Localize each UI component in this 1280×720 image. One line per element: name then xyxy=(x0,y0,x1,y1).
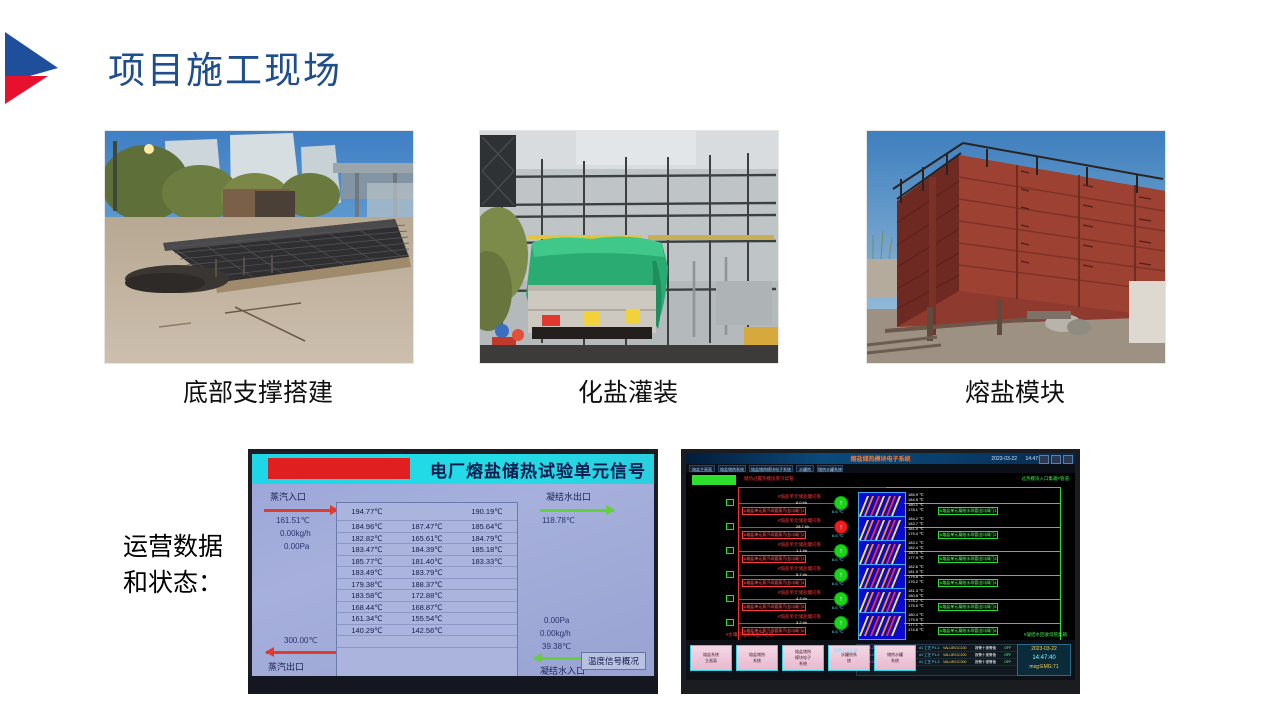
scada-clock-panel: 2023-03-22 14:47:40 msg:EMG:71 xyxy=(1017,644,1071,676)
caption-photo-1: 底部支撑搭建 xyxy=(104,373,412,409)
photo-1-art xyxy=(105,131,413,363)
hmi-steam-inlet-label: 蒸汽入口 xyxy=(270,490,306,503)
steam-valve-tag[interactable]: #熔盐单元蒸汽母管蒸汽出口阀门1 xyxy=(742,507,806,515)
condensate-branch-line xyxy=(904,623,1061,624)
pump-status-icon[interactable]: ↑ xyxy=(834,568,848,582)
hmi-table-cell xyxy=(397,636,457,647)
hmi-titlebar: 电厂熔盐储热试验单元信号 xyxy=(252,454,654,484)
pump-status-icon[interactable]: ↑ xyxy=(834,520,848,534)
scada-menu-item[interactable]: 熔盐储热系统 xyxy=(718,465,746,472)
coil-icon xyxy=(863,496,901,516)
scada-bottom-note-left: #水罐热给水泵出口总管 xyxy=(726,632,774,638)
steam-flow-value: 1.1 t/h xyxy=(796,548,807,553)
condensate-valve-tag[interactable]: #熔盐单元凝结水母管出口阀门6 xyxy=(938,627,998,635)
steam-branch-line xyxy=(738,551,834,552)
module-outlet-temp: 175.5 ℃ xyxy=(908,603,924,608)
scada-toolbar-button[interactable]: 熔盐储热 系统 xyxy=(736,645,778,671)
pump-status-icon[interactable]: ↑ xyxy=(834,592,848,606)
hmi-table-row: 168.44℃168.87℃ xyxy=(337,602,517,614)
hmi-table-cell xyxy=(457,567,517,578)
hmi-table-cell: 179.38℃ xyxy=(337,579,397,590)
hmi-table-cell xyxy=(397,503,457,520)
scada-menu-item[interactable]: 熔盐储热模块电子系统 xyxy=(749,465,793,472)
hmi-table-cell: 168.44℃ xyxy=(337,602,397,613)
hmi-condensate-inlet-label: 凝结水入口 xyxy=(540,664,585,676)
hmi-table-cell: 185.77℃ xyxy=(337,556,397,567)
condensate-valve-tag[interactable]: #熔盐单元凝结水母管出口阀门1 xyxy=(938,507,998,515)
photo-molten-salt-module xyxy=(866,130,1166,364)
hmi-condensate-inlet-flow: 0.00kg/h xyxy=(540,629,571,638)
hmi-table-cell: 155.54℃ xyxy=(397,613,457,624)
module-inlet-temp: 6.6 ℃ xyxy=(832,629,843,634)
hmi-condensate-inlet-temp: 39.38℃ xyxy=(542,642,571,651)
module-inlet-temp: 6.6 ℃ xyxy=(832,605,843,610)
alarm-log-label: 报警及下位表 xyxy=(834,648,858,654)
hmi-steam-outlet-label: 蒸汽出口 xyxy=(268,660,304,673)
hmi-table-cell xyxy=(457,590,517,601)
hmi-condensate-outlet-temp: 118.78℃ xyxy=(542,516,575,525)
hmi-table-row: 184.96℃187.47℃185.64℃ xyxy=(337,521,517,533)
scada-menu-item[interactable]: 水罐热 xyxy=(796,465,814,472)
hmi-table-cell: 183.79℃ xyxy=(397,567,457,578)
module-inlet-temp: 6.6 ℃ xyxy=(832,509,843,514)
alarm-log-cell: VALUE01C100 xyxy=(942,645,974,651)
alarm-log-cell: 报警十报警值 xyxy=(974,652,1003,658)
hmi-table-cell: 185.18℃ xyxy=(457,544,517,555)
maximize-icon[interactable] xyxy=(1051,455,1061,464)
hmi-table-cell: 188.37℃ xyxy=(397,579,457,590)
minimize-icon[interactable] xyxy=(1039,455,1049,464)
steam-valve-tag[interactable]: #熔盐单元蒸汽母管蒸汽出口阀门5 xyxy=(742,603,806,611)
hmi-steam-outlet-temp: 300.00℃ xyxy=(284,636,317,645)
steam-valve-tag[interactable]: #熔盐单元蒸汽母管蒸汽出口阀门3 xyxy=(742,555,806,563)
hmi-monitor-bezel xyxy=(248,676,658,694)
scada-bottom-note-right: #凝结水回收母管集箱 xyxy=(1024,632,1067,638)
steam-flow-value: 3.2 t/h xyxy=(796,620,807,625)
scada-title-date: 2023-03-22 xyxy=(991,456,1017,462)
pump-status-icon[interactable]: ↑ xyxy=(834,616,848,630)
scada-screen: 熔盐储热模块电子系统 2023-03-22 14:47:40 熔盐主画面熔盐储热… xyxy=(686,453,1075,680)
condensate-top-line xyxy=(886,487,1061,488)
scada-toolbar-button[interactable]: 熔盐储热 模块电子 系统 xyxy=(782,645,824,671)
scada-menubar[interactable]: 熔盐主画面熔盐储热系统熔盐储热模块电子系统水罐热储热水罐系统 xyxy=(686,464,1075,473)
coil-icon xyxy=(863,592,901,612)
brand-logo-icon xyxy=(2,28,60,108)
module-outlet-temp: 174.8 ℃ xyxy=(908,627,924,632)
hmi-table-cell: 142.56℃ xyxy=(397,625,457,636)
hmi-table-row: 185.77℃181.40℃183.33℃ xyxy=(337,556,517,568)
hmi-table-row: 140.29℃142.56℃ xyxy=(337,625,517,637)
hmi-screenshot: 电厂熔盐储热试验单元信号 蒸汽入口 161.51℃ 0.00kg/h 0.00P… xyxy=(248,449,658,694)
steam-outlet-arrow-icon xyxy=(266,650,340,654)
hmi-table-row: 194.77℃190.19℃ xyxy=(337,503,517,521)
coil-icon xyxy=(863,616,901,636)
coil-icon xyxy=(863,568,901,588)
scada-left-header: 储热过置热模块蒸汽母管 xyxy=(744,476,794,482)
scada-titlebar: 熔盐储热模块电子系统 2023-03-22 14:47:40 xyxy=(686,453,1075,464)
scada-title: 熔盐储热模块电子系统 xyxy=(850,454,910,463)
scada-mimic-diagram: 储热过置热模块蒸汽母管 过热模块入口集箱#管道 #熔盐单元储盐罐闪蒸6.0 t/… xyxy=(686,473,1075,640)
steam-branch-line xyxy=(738,527,834,528)
hmi-title: 电厂熔盐储热试验单元信号 xyxy=(430,457,646,482)
steam-branch-line xyxy=(738,599,834,600)
hmi-table-cell: 194.77℃ xyxy=(337,503,397,520)
valve-marker-icon[interactable] xyxy=(726,595,734,602)
condensate-branch-line xyxy=(904,551,1061,552)
caption-photo-2: 化盐灌装 xyxy=(479,373,777,409)
hmi-temperature-table: 194.77℃190.19℃184.96℃187.47℃185.64℃182.8… xyxy=(336,502,518,676)
hmi-condensate-inlet-pressure: 0.00Pa xyxy=(544,616,569,625)
photo-salt-filling xyxy=(479,130,779,364)
valve-marker-icon[interactable] xyxy=(726,547,734,554)
condensate-branch-line xyxy=(904,575,1061,576)
ops-data-label-line1: 运营数据 xyxy=(98,530,248,566)
scada-menu-item[interactable]: 储热水罐系统 xyxy=(817,465,843,472)
alarm-log-cell: VALUE01C300 xyxy=(942,659,974,665)
scada-toolbar-button[interactable]: 熔盐系统 主画面 xyxy=(690,645,732,671)
hmi-table-cell: 184.39℃ xyxy=(397,544,457,555)
condensate-valve-tag[interactable]: #熔盐单元凝结水母管出口阀门4 xyxy=(938,579,998,587)
coil-icon xyxy=(863,544,901,564)
alarm-log-cell: #1 工艺 P1-2 xyxy=(918,652,942,658)
status-indicator-green xyxy=(692,475,736,485)
steam-inlet-arrow-icon xyxy=(264,508,338,512)
hmi-table-row: 182.82℃165.61℃184.79℃ xyxy=(337,533,517,545)
module-outlet-temp: 177.9 ℃ xyxy=(908,555,924,560)
redaction-bar xyxy=(268,458,410,479)
scada-screenshot: 熔盐储热模块电子系统 2023-03-22 14:47:40 熔盐主画面熔盐储热… xyxy=(681,449,1080,694)
module-inlet-temp: 6.6 ℃ xyxy=(832,581,843,586)
photo-2-art xyxy=(480,131,778,363)
steam-flow-value: 28.7 t/h xyxy=(796,524,809,529)
hmi-table-cell xyxy=(337,636,397,647)
scada-toolbar-button[interactable]: 储热水罐 系统 xyxy=(874,645,916,671)
hmi-condensate-outlet-label: 凝结水出口 xyxy=(546,490,591,503)
hmi-table-cell xyxy=(457,602,517,613)
hmi-table-cell: 168.87℃ xyxy=(397,602,457,613)
scada-menu-item[interactable]: 熔盐主画面 xyxy=(689,465,715,472)
hmi-table-row: 183.49℃183.79℃ xyxy=(337,567,517,579)
hmi-table-row: 183.58℃172.88℃ xyxy=(337,590,517,602)
module-outlet-temp: 178.1 ℃ xyxy=(908,507,924,512)
hmi-steam-inlet-flow: 0.00kg/h xyxy=(280,529,311,538)
hmi-table-cell: 184.79℃ xyxy=(457,533,517,544)
close-icon[interactable] xyxy=(1063,455,1073,464)
condensate-branch-line xyxy=(904,503,1061,504)
hmi-table-cell: 183.33℃ xyxy=(457,556,517,567)
hmi-steam-inlet-pressure: 0.00Pa xyxy=(284,542,309,551)
steam-flow-value: 4.3 t/h xyxy=(796,596,807,601)
condensate-valve-tag[interactable]: #熔盐单元凝结水母管出口阀门2 xyxy=(938,531,998,539)
hmi-table-cell: 181.40℃ xyxy=(397,556,457,567)
hmi-table-row: 179.38℃188.37℃ xyxy=(337,579,517,591)
ops-data-label-line2: 和状态： xyxy=(98,566,248,602)
scada-right-header: 过热模块入口集箱#管道 xyxy=(1021,476,1069,482)
condensate-branch-line xyxy=(904,599,1061,600)
coil-icon xyxy=(863,520,901,540)
valve-marker-icon[interactable] xyxy=(726,571,734,578)
hmi-table-cell: 161.34℃ xyxy=(337,613,397,624)
steam-branch-line xyxy=(738,503,834,504)
module-inlet-temp: 6.6 ℃ xyxy=(832,557,843,562)
scada-toolbar[interactable]: 2023-03-2214:45:10#1 工艺 P1-1VALUE01C100报… xyxy=(686,640,1075,680)
module-inlet-temp: 6.6 ℃ xyxy=(832,533,843,538)
valve-marker-icon[interactable] xyxy=(726,499,734,506)
hmi-table-cell: 185.64℃ xyxy=(457,521,517,532)
steam-branch-line xyxy=(738,623,834,624)
window-controls[interactable] xyxy=(1039,455,1073,464)
photo-bottom-support xyxy=(104,130,414,364)
scada-clock-msg: msg:EMG:71 xyxy=(1018,663,1070,672)
alarm-log-cell: 报警十报警值 xyxy=(974,645,1003,651)
temperature-signal-overview-button[interactable]: 温度信号概况 xyxy=(581,652,646,670)
hmi-table-cell xyxy=(457,636,517,647)
condensate-valve-tag[interactable]: #熔盐单元凝结水母管出口阀门5 xyxy=(938,603,998,611)
caption-photo-3: 熔盐模块 xyxy=(866,373,1164,409)
hmi-table-cell: 140.29℃ xyxy=(337,625,397,636)
hmi-table-row: 183.47℃184.39℃185.18℃ xyxy=(337,544,517,556)
hmi-table-cell: 187.47℃ xyxy=(397,521,457,532)
condensate-valve-tag[interactable]: #熔盐单元凝结水母管出口阀门3 xyxy=(938,555,998,563)
steam-top-line xyxy=(738,487,898,488)
hmi-table-cell: 172.88℃ xyxy=(397,590,457,601)
hmi-table-cell: 165.61℃ xyxy=(397,533,457,544)
hmi-screen: 电厂熔盐储热试验单元信号 蒸汽入口 161.51℃ 0.00kg/h 0.00P… xyxy=(252,454,654,676)
module-outlet-temp: 176.2 ℃ xyxy=(908,579,924,584)
hmi-table-cell: 183.58℃ xyxy=(337,590,397,601)
steam-flow-value: 5.7 t/h xyxy=(796,572,807,577)
hmi-table-cell xyxy=(457,625,517,636)
heat-exchanger-module[interactable] xyxy=(858,612,906,640)
hmi-table-cell: 184.96℃ xyxy=(337,521,397,532)
slide-root: 项目施工现场 xyxy=(0,0,1280,720)
steam-flow-value: 6.0 t/h xyxy=(796,500,807,505)
hmi-table-cell: 183.47℃ xyxy=(337,544,397,555)
pump-status-icon[interactable]: ↑ xyxy=(834,544,848,558)
hmi-table-cell: 182.82℃ xyxy=(337,533,397,544)
alarm-log-cell: 报警十报警值 xyxy=(974,659,1003,665)
condensate-branch-line xyxy=(904,527,1061,528)
pump-status-icon[interactable]: ↑ xyxy=(834,496,848,510)
steam-branch-line xyxy=(738,575,834,576)
hmi-table-cell: 190.19℃ xyxy=(457,503,517,520)
alarm-log-cell: #1 工艺 P1-3 xyxy=(918,659,942,665)
hmi-steam-inlet-temp: 161.51℃ xyxy=(276,516,309,525)
hmi-table-cell xyxy=(457,613,517,624)
ops-data-label: 运营数据 和状态： xyxy=(98,530,248,603)
alarm-log-cell: VALUE01C200 xyxy=(942,652,974,658)
hmi-body: 蒸汽入口 161.51℃ 0.00kg/h 0.00Pa 300.00℃ 蒸汽出… xyxy=(252,484,654,676)
hmi-table-row xyxy=(337,636,517,648)
steam-valve-tag[interactable]: #熔盐单元蒸汽母管蒸汽出口阀门4 xyxy=(742,579,806,587)
hmi-table-cell xyxy=(457,579,517,590)
alarm-log-cell: #1 工艺 P1-1 xyxy=(918,645,942,651)
valve-marker-icon[interactable] xyxy=(726,619,734,626)
hmi-table-row: 161.34℃155.54℃ xyxy=(337,613,517,625)
scada-clock-date: 2023-03-22 xyxy=(1018,645,1070,654)
valve-marker-icon[interactable] xyxy=(726,523,734,530)
photo-3-art xyxy=(867,131,1165,363)
hmi-table-cell: 183.49℃ xyxy=(337,567,397,578)
condensate-outlet-arrow-icon xyxy=(540,508,614,512)
steam-valve-tag[interactable]: #熔盐单元蒸汽母管蒸汽出口阀门2 xyxy=(742,531,806,539)
module-outlet-temp: 179.4 ℃ xyxy=(908,531,924,536)
page-title: 项目施工现场 xyxy=(108,40,342,94)
scada-clock-time: 14:47:40 xyxy=(1018,654,1070,663)
